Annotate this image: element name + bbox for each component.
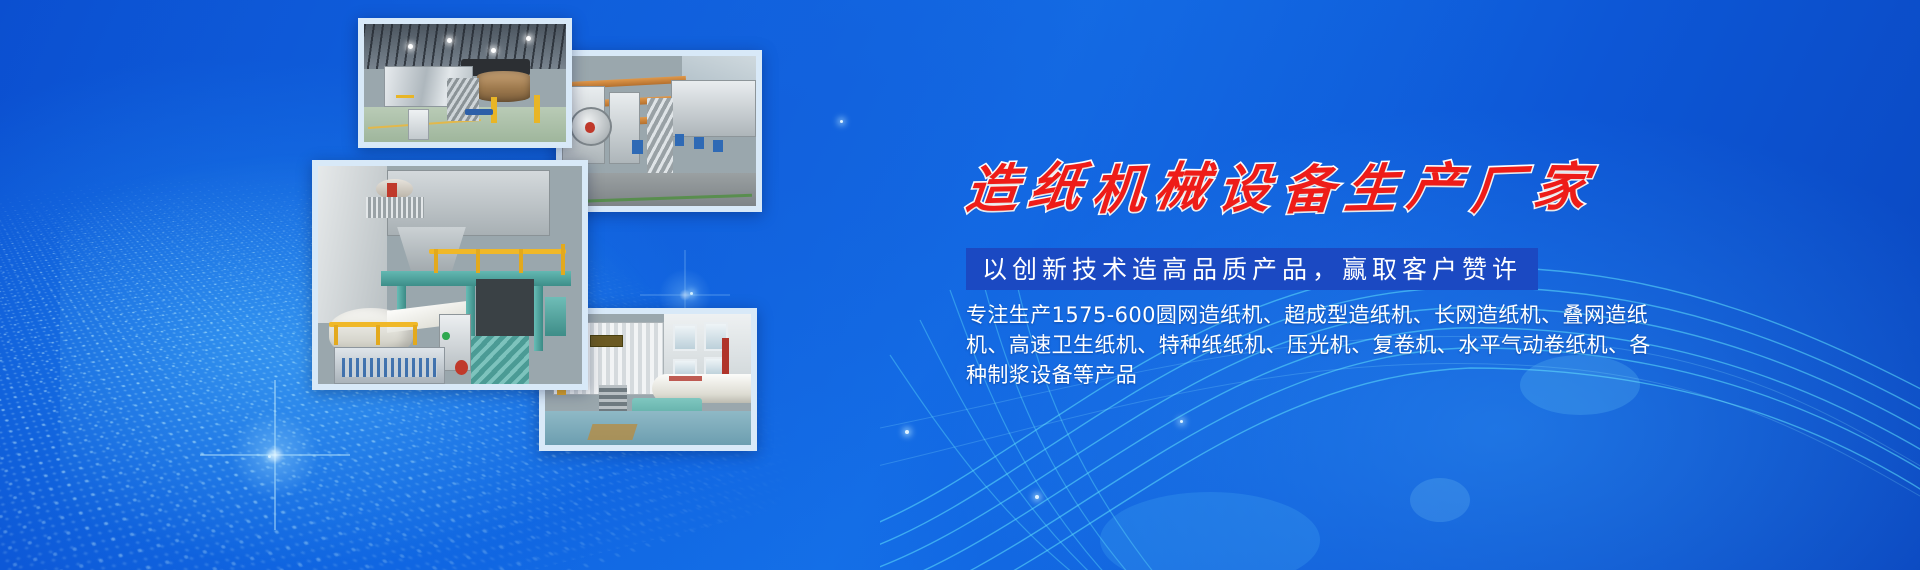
banner-subtitle-band: 以创新技术造高品质产品，赢取客户赞许 (966, 248, 1538, 290)
headline-char: 造 (963, 164, 1020, 217)
promo-banner: 造 纸 机 械 设 备 生 产 厂 家 以创新技术造高品质产品，赢取客户赞许 专… (0, 0, 1920, 570)
description-line: 机、高速卫生纸机、特种纸纸机、压光机、复卷机、水平气动卷纸机、各 (966, 330, 1566, 360)
starburst-flare (200, 380, 350, 530)
headline-char: 备 (1280, 165, 1336, 219)
photo-paper-machine-hall (358, 18, 572, 148)
headline-char: 械 (1151, 163, 1212, 216)
headline-char: 设 (1216, 164, 1273, 217)
photo-main-paper-machine (312, 160, 588, 390)
headline-char: 生 (1342, 164, 1399, 217)
headline-char: 纸 (1025, 163, 1086, 216)
headline-char: 机 (1090, 165, 1146, 219)
banner-headline: 造 纸 机 械 设 备 生 产 厂 家 (966, 160, 1586, 222)
description-line: 专注生产1575-600圆网造纸机、超成型造纸机、长网造纸机、叠网造纸 (966, 300, 1566, 330)
banner-subtitle-text: 以创新技术造高品质产品，赢取客户赞许 (982, 257, 1522, 282)
description-line: 种制浆设备等产品 (966, 360, 1566, 390)
headline-char: 厂 (1469, 165, 1525, 219)
sparkle-dot (840, 120, 843, 123)
sparkle-dot (268, 455, 271, 458)
headline-char: 家 (1530, 163, 1591, 216)
sparkle-dot (1035, 495, 1039, 499)
headline-char: 产 (1404, 163, 1465, 216)
sparkle-dot (905, 430, 909, 434)
sparkle-dot (1180, 420, 1183, 423)
banner-description: 专注生产1575-600圆网造纸机、超成型造纸机、长网造纸机、叠网造纸 机、高速… (966, 300, 1566, 390)
sparkle-dot (690, 292, 693, 295)
